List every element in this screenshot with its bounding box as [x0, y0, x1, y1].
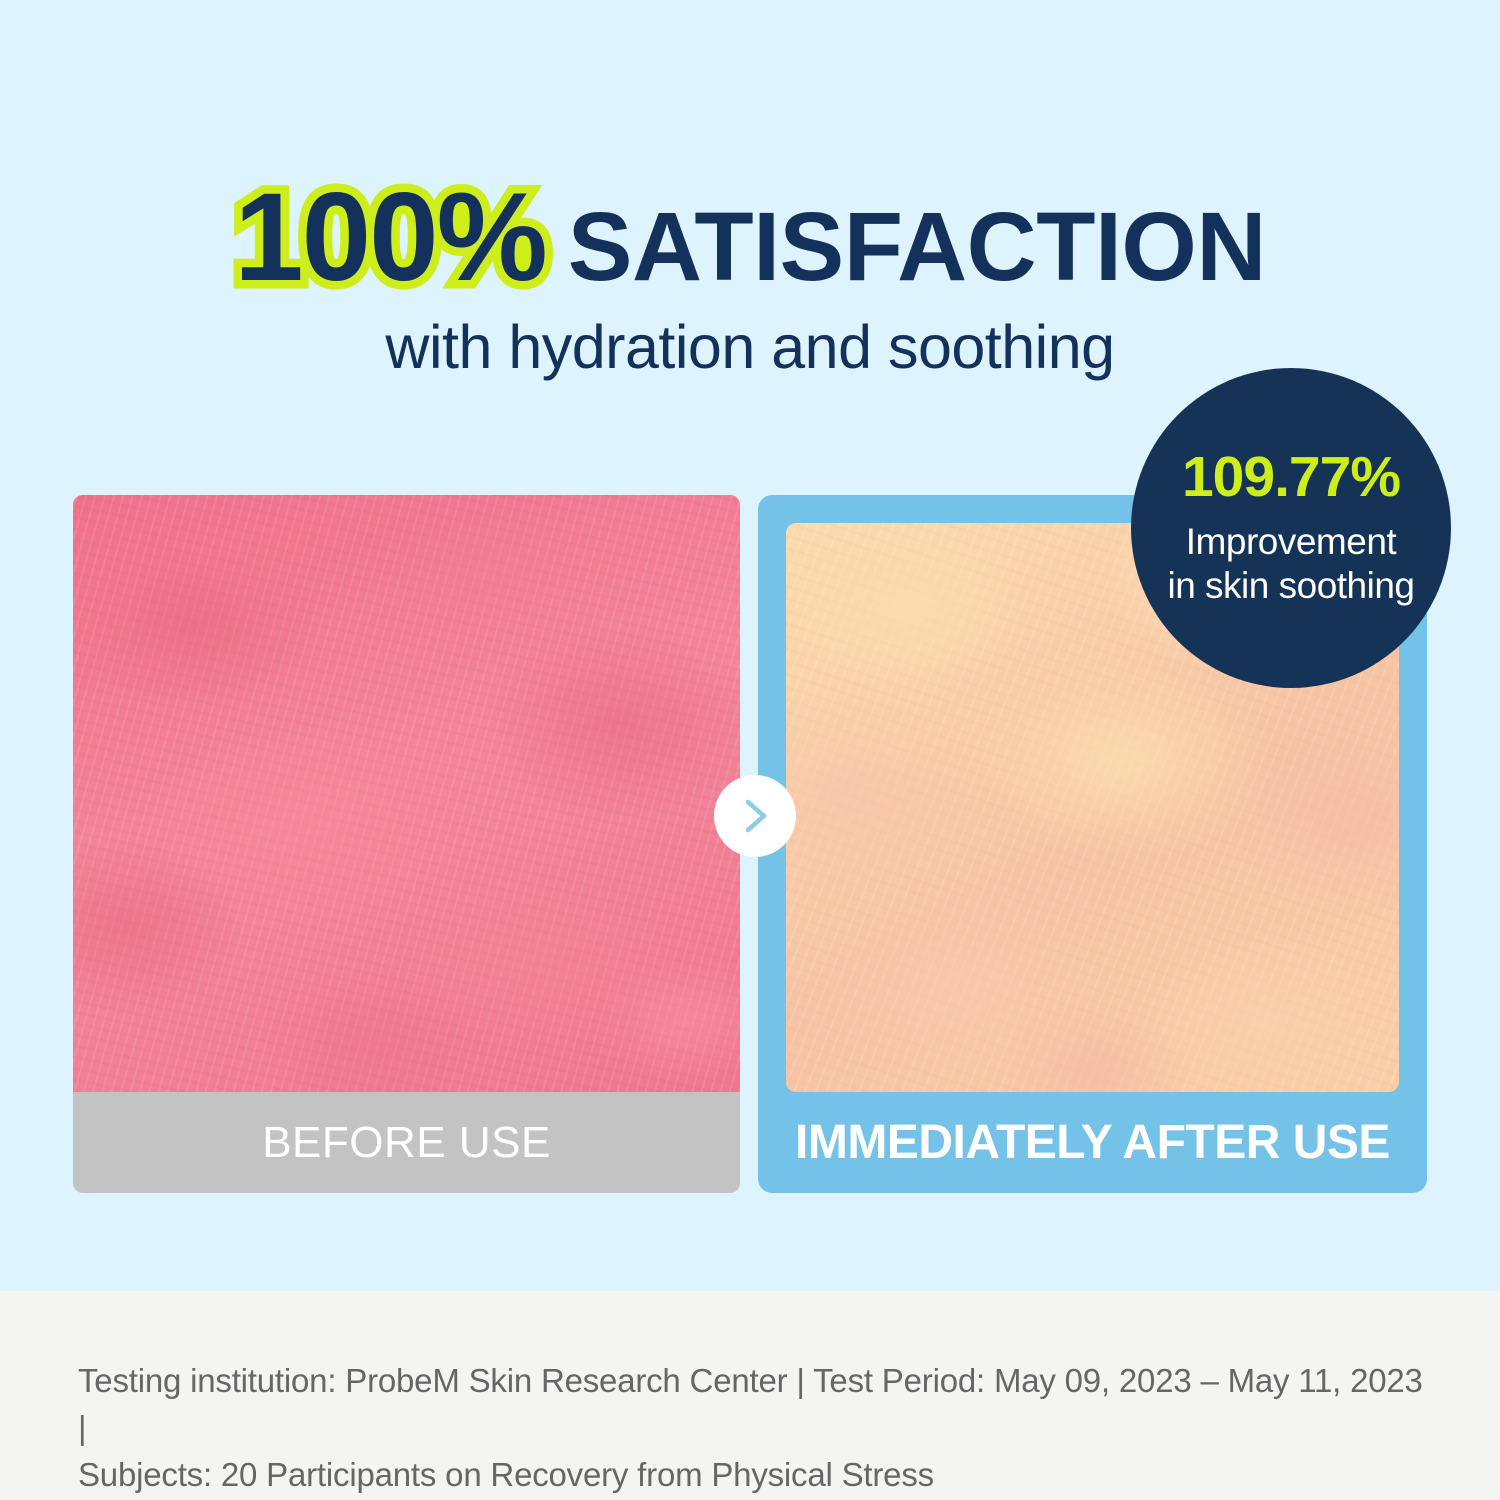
headline-percent: 100%: [234, 168, 546, 307]
footer-disclaimer: Testing institution: ProbeM Skin Researc…: [78, 1358, 1438, 1499]
headline-word: SATISFACTION: [568, 192, 1266, 301]
before-label: BEFORE USE: [73, 1092, 740, 1193]
footer-line-2: Subjects: 20 Participants on Recovery fr…: [78, 1452, 1438, 1499]
badge-line-1: Improvement: [1186, 520, 1396, 563]
chevron-right-icon: [714, 775, 796, 857]
before-panel: BEFORE USE: [73, 495, 740, 1193]
after-label: IMMEDIATELY AFTER USE: [758, 1092, 1427, 1193]
promo-graphic: 100%SATISFACTION with hydration and soot…: [0, 0, 1500, 1500]
badge-value: 109.77%: [1182, 449, 1400, 506]
badge-line-2: in skin soothing: [1167, 564, 1414, 607]
improvement-badge: 109.77% Improvement in skin soothing: [1131, 368, 1451, 688]
footer-line-1: Testing institution: ProbeM Skin Researc…: [78, 1358, 1438, 1452]
headline: 100%SATISFACTION: [0, 166, 1500, 309]
before-skin-image: [73, 495, 740, 1092]
